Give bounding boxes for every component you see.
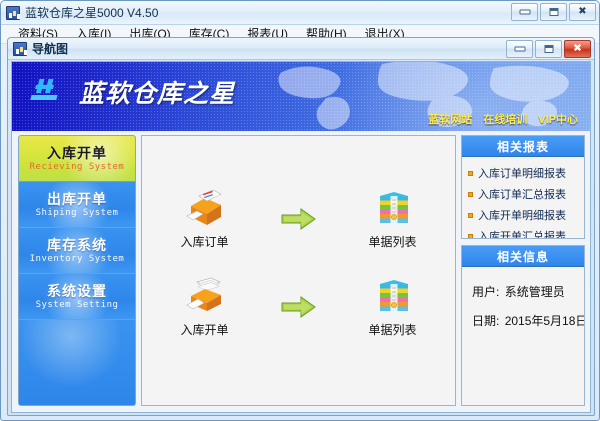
report-link-order-summary[interactable]: 入库订单汇总报表 [468, 186, 580, 202]
info-user-value: 系统管理员 [505, 285, 565, 299]
maximize-button[interactable] [540, 3, 567, 21]
child-close-icon: ✖ [573, 44, 582, 55]
workflow-row-order: 入库订单 [142, 188, 455, 250]
workflow-row-invoice: 入库开单 [142, 276, 455, 338]
sidebar-item-inventory-label: 库存系统 [47, 237, 107, 253]
navigation-child-window: 导航图 ✖ [7, 37, 595, 416]
report-link-invoice-summary[interactable]: 入库开单汇总报表 [468, 228, 580, 239]
arrow-right-icon [281, 295, 317, 319]
arrow-right-icon [281, 207, 317, 231]
content-columns: 入库开单 Recieving System 出库开单 Shiping Syste… [12, 131, 590, 412]
brand-logo: 蓝软仓库之星 [30, 74, 235, 110]
invoice-printer-icon [184, 276, 226, 316]
sidebar-item-settings-label: 系统设置 [47, 283, 107, 299]
related-info-title: 相关信息 [462, 246, 584, 267]
sidebar-item-shipping-sublabel: Shiping System [36, 207, 119, 219]
workflow-node-document-list-1-label: 单据列表 [368, 233, 416, 250]
link-vip-center[interactable]: VIP中心 [538, 111, 578, 127]
info-date-row: 日期: 2015年5月18日 [472, 312, 584, 329]
window-title: 蓝软仓库之星5000 V4.50 [25, 4, 158, 21]
sidebar-item-inventory-sublabel: Inventory System [30, 253, 125, 265]
child-window-controls: ✖ [506, 40, 591, 58]
child-window-title: 导航图 [32, 40, 68, 57]
bullet-icon [468, 171, 473, 176]
child-window-icon [13, 42, 27, 56]
child-close-button[interactable]: ✖ [564, 40, 591, 58]
workflow-node-document-list-2-label: 单据列表 [368, 321, 416, 338]
bullet-icon [468, 192, 473, 197]
report-link-invoice-detail-label: 入库开单明细报表 [478, 207, 566, 223]
app-logo-icon [6, 6, 20, 20]
workflow-panel: 入库订单 [141, 135, 456, 406]
brand-banner: 蓝软仓库之星 蓝软网站 在线培训 VIP中心 [12, 62, 590, 131]
workflow-node-inbound-order-label: 入库订单 [180, 233, 228, 250]
child-window-title-bar: 导航图 ✖ [8, 38, 594, 60]
child-maximize-button[interactable] [535, 40, 562, 58]
sidebar-item-settings[interactable]: 系统设置 System Setting [19, 274, 135, 320]
report-link-invoice-detail[interactable]: 入库开单明细报表 [468, 207, 580, 223]
sidebar-item-settings-sublabel: System Setting [36, 299, 119, 311]
close-button[interactable]: ✖ [569, 3, 596, 21]
document-list-icon [372, 188, 414, 228]
document-list-icon [372, 276, 414, 316]
sidebar-item-receiving-sublabel: Recieving System [30, 161, 125, 173]
related-info-panel: 相关信息 用户: 系统管理员 日期: 2015年5月18日 [461, 245, 585, 406]
related-reports-list: 入库订单明细报表 入库订单汇总报表 入库开单明细报表 [462, 157, 584, 239]
info-user-row: 用户: 系统管理员 [472, 283, 584, 300]
title-bar: 蓝软仓库之星5000 V4.50 ✖ [1, 1, 599, 25]
link-website[interactable]: 蓝软网站 [428, 111, 472, 127]
report-link-order-summary-label: 入库订单汇总报表 [478, 186, 566, 202]
close-icon: ✖ [578, 7, 586, 17]
sidebar-item-receiving[interactable]: 入库开单 Recieving System [19, 136, 135, 182]
workflow-node-inbound-invoice-label: 入库开单 [180, 321, 228, 338]
sidebar-item-shipping-label: 出库开单 [47, 191, 107, 207]
bullet-icon [468, 234, 473, 239]
child-minimize-button[interactable] [506, 40, 533, 58]
workflow-node-inbound-order[interactable]: 入库订单 [159, 188, 251, 250]
minimize-button[interactable] [511, 3, 538, 21]
logo-mark-icon [30, 77, 70, 107]
order-box-icon [184, 188, 226, 228]
related-info-body: 用户: 系统管理员 日期: 2015年5月18日 [462, 267, 584, 329]
report-link-order-detail[interactable]: 入库订单明细报表 [468, 165, 580, 181]
window-controls: ✖ [511, 3, 596, 21]
related-reports-title: 相关报表 [462, 136, 584, 157]
link-online-training[interactable]: 在线培训 [483, 111, 527, 127]
sidebar-item-inventory[interactable]: 库存系统 Inventory System [19, 228, 135, 274]
navigation-sidebar: 入库开单 Recieving System 出库开单 Shiping Syste… [18, 135, 136, 406]
right-column: 相关报表 入库订单明细报表 入库订单汇总报表 [461, 135, 585, 406]
report-link-invoice-summary-label: 入库开单汇总报表 [478, 228, 566, 239]
sidebar-item-receiving-label: 入库开单 [47, 145, 107, 161]
info-user-label: 用户: [472, 285, 499, 299]
banner-link-group: 蓝软网站 在线培训 VIP中心 [428, 111, 578, 127]
sidebar-filler [19, 320, 135, 405]
info-date-label: 日期: [472, 314, 499, 328]
workflow-node-inbound-invoice[interactable]: 入库开单 [159, 276, 251, 338]
brand-name: 蓝软仓库之星 [79, 74, 235, 110]
sidebar-item-shipping[interactable]: 出库开单 Shiping System [19, 182, 135, 228]
workflow-node-document-list-1[interactable]: 单据列表 [347, 188, 439, 250]
bullet-icon [468, 213, 473, 218]
application-window: 蓝软仓库之星5000 V4.50 ✖ 资料(S) 入库(I) 出库(O) 库存(… [0, 0, 600, 421]
related-reports-panel: 相关报表 入库订单明细报表 入库订单汇总报表 [461, 135, 585, 239]
navigation-client-area: 蓝软仓库之星 蓝软网站 在线培训 VIP中心 入库开单 Recieving Sy… [11, 61, 591, 413]
info-date-value: 2015年5月18日 [505, 314, 585, 328]
report-link-order-detail-label: 入库订单明细报表 [478, 165, 566, 181]
workflow-node-document-list-2[interactable]: 单据列表 [347, 276, 439, 338]
